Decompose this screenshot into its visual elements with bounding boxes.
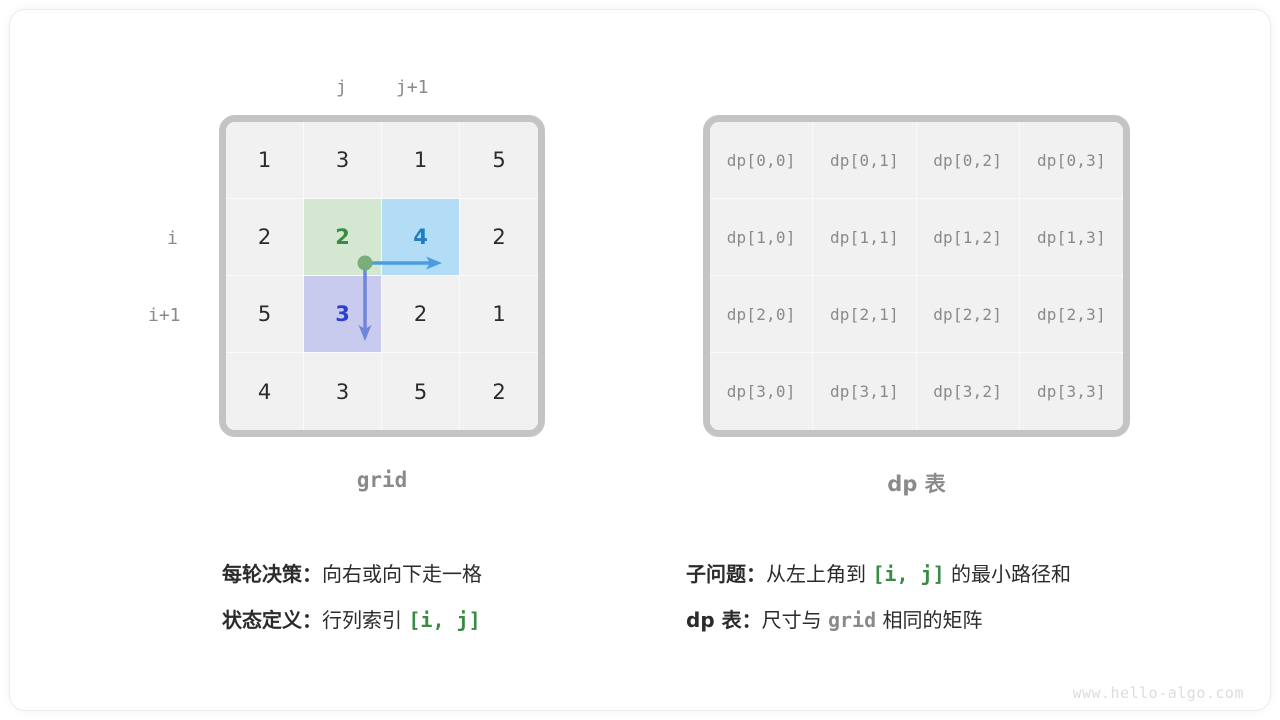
dp-cell: dp[2,1] bbox=[813, 276, 916, 353]
dp-cell: dp[0,1] bbox=[813, 122, 916, 199]
notes-right: 子问题：从左上角到 [i, j] 的最小路径和 dp 表：尺寸与 grid 相同… bbox=[686, 551, 1071, 643]
dp-cell-label: dp[0,1] bbox=[830, 151, 899, 170]
grid-cell: 2 bbox=[460, 353, 538, 430]
note-dptable-code: grid bbox=[828, 608, 876, 632]
dp-cell-label: dp[2,3] bbox=[1037, 305, 1106, 324]
dp-cell: dp[1,1] bbox=[813, 199, 916, 276]
grid-cell: 1 bbox=[460, 276, 538, 353]
dp-cell: dp[3,2] bbox=[917, 353, 1020, 430]
grid-cell-highlight-blue: 4 bbox=[382, 199, 460, 276]
dp-cell-label: dp[3,0] bbox=[727, 382, 796, 401]
grid-cell-value: 1 bbox=[258, 148, 271, 172]
grid-cell-value: 5 bbox=[492, 148, 505, 172]
dp-cell-label: dp[1,2] bbox=[933, 228, 1002, 247]
grid-cell-value: 2 bbox=[492, 225, 505, 249]
watermark: www.hello-algo.com bbox=[1072, 684, 1244, 702]
grid-matrix: 1 3 1 5 2 2 4 2 5 3 2 1 4 3 5 2 bbox=[219, 115, 545, 437]
column-label-j-plus-1: j+1 bbox=[396, 77, 429, 98]
dp-cell: dp[0,0] bbox=[710, 122, 813, 199]
grid-cell-value: 1 bbox=[414, 148, 427, 172]
note-dptable-label: dp 表： bbox=[686, 608, 762, 632]
grid-cell: 1 bbox=[382, 122, 460, 199]
note-dptable-text-a: 尺寸与 bbox=[762, 608, 828, 632]
diagram-canvas: j j+1 i i+1 1 3 1 5 2 2 4 2 5 3 2 1 4 3 … bbox=[0, 0, 1280, 720]
dp-cell-label: dp[3,3] bbox=[1037, 382, 1106, 401]
grid-cell-value: 4 bbox=[258, 380, 271, 404]
grid-cell-value: 3 bbox=[336, 148, 349, 172]
note-decision-line: 每轮决策：向右或向下走一格 bbox=[222, 551, 482, 597]
grid-cell-value: 5 bbox=[414, 380, 427, 404]
note-subproblem-text-b: 的最小路径和 bbox=[945, 562, 1071, 586]
row-label-i: i bbox=[167, 228, 178, 249]
grid-cell-value: 4 bbox=[413, 225, 428, 249]
dp-cell: dp[0,3] bbox=[1020, 122, 1123, 199]
dp-cell: dp[1,3] bbox=[1020, 199, 1123, 276]
note-subproblem-code: [i, j] bbox=[872, 562, 944, 586]
grid-cell: 5 bbox=[382, 353, 460, 430]
note-dptable-text-b: 相同的矩阵 bbox=[876, 608, 982, 632]
note-state-text: 行列索引 bbox=[322, 608, 408, 632]
grid-cell-highlight-purple: 3 bbox=[304, 276, 382, 353]
dp-cell: dp[2,2] bbox=[917, 276, 1020, 353]
grid-cell-value: 2 bbox=[335, 225, 350, 249]
note-subproblem-line: 子问题：从左上角到 [i, j] 的最小路径和 bbox=[686, 551, 1071, 597]
note-dptable-line: dp 表：尺寸与 grid 相同的矩阵 bbox=[686, 597, 1071, 643]
grid-cell-value: 2 bbox=[258, 225, 271, 249]
note-subproblem-text-a: 从左上角到 bbox=[766, 562, 872, 586]
dp-cell-label: dp[1,1] bbox=[830, 228, 899, 247]
grid-cell-value: 2 bbox=[414, 302, 427, 326]
column-label-j: j bbox=[336, 77, 347, 98]
note-subproblem-label: 子问题： bbox=[686, 562, 766, 586]
note-decision-label: 每轮决策： bbox=[222, 562, 322, 586]
dp-cell: dp[3,3] bbox=[1020, 353, 1123, 430]
dp-cell-label: dp[0,2] bbox=[933, 151, 1002, 170]
note-state-label: 状态定义： bbox=[222, 608, 322, 632]
dp-cell: dp[1,2] bbox=[917, 199, 1020, 276]
notes-left: 每轮决策：向右或向下走一格 状态定义：行列索引 [i, j] bbox=[222, 551, 482, 643]
dp-cell-label: dp[2,1] bbox=[830, 305, 899, 324]
grid-cell-value: 5 bbox=[258, 302, 271, 326]
note-state-code: [i, j] bbox=[408, 608, 480, 632]
dp-cell-label: dp[3,2] bbox=[933, 382, 1002, 401]
grid-cell-value: 2 bbox=[492, 380, 505, 404]
grid-cell-value: 3 bbox=[336, 380, 349, 404]
dp-cell-label: dp[0,0] bbox=[727, 151, 796, 170]
dp-cell: dp[3,1] bbox=[813, 353, 916, 430]
note-state-line: 状态定义：行列索引 [i, j] bbox=[222, 597, 482, 643]
dp-cell: dp[3,0] bbox=[710, 353, 813, 430]
grid-cell-value: 1 bbox=[492, 302, 505, 326]
grid-cell: 3 bbox=[304, 353, 382, 430]
grid-cell: 2 bbox=[460, 199, 538, 276]
dp-cell: dp[0,2] bbox=[917, 122, 1020, 199]
grid-cell: 5 bbox=[460, 122, 538, 199]
grid-cell: 5 bbox=[226, 276, 304, 353]
note-decision-text: 向右或向下走一格 bbox=[322, 562, 482, 586]
grid-cell-value: 3 bbox=[335, 302, 350, 326]
row-label-i-plus-1: i+1 bbox=[148, 305, 181, 326]
dp-cell-label: dp[2,0] bbox=[727, 305, 796, 324]
dp-cell: dp[2,0] bbox=[710, 276, 813, 353]
dp-cell-label: dp[2,2] bbox=[933, 305, 1002, 324]
dp-table-caption: dp 表 bbox=[703, 468, 1130, 498]
dp-table-matrix: dp[0,0] dp[0,1] dp[0,2] dp[0,3] dp[1,0] … bbox=[703, 115, 1130, 437]
grid-cell: 4 bbox=[226, 353, 304, 430]
grid-cell-highlight-green: 2 bbox=[304, 199, 382, 276]
dp-cell: dp[1,0] bbox=[710, 199, 813, 276]
grid-caption: grid bbox=[219, 468, 545, 492]
dp-cell-label: dp[0,3] bbox=[1037, 151, 1106, 170]
grid-cell: 2 bbox=[382, 276, 460, 353]
dp-cell-label: dp[1,3] bbox=[1037, 228, 1106, 247]
dp-cell: dp[2,3] bbox=[1020, 276, 1123, 353]
grid-cell: 1 bbox=[226, 122, 304, 199]
grid-cell: 2 bbox=[226, 199, 304, 276]
grid-cell: 3 bbox=[304, 122, 382, 199]
dp-cell-label: dp[1,0] bbox=[727, 228, 796, 247]
dp-cell-label: dp[3,1] bbox=[830, 382, 899, 401]
